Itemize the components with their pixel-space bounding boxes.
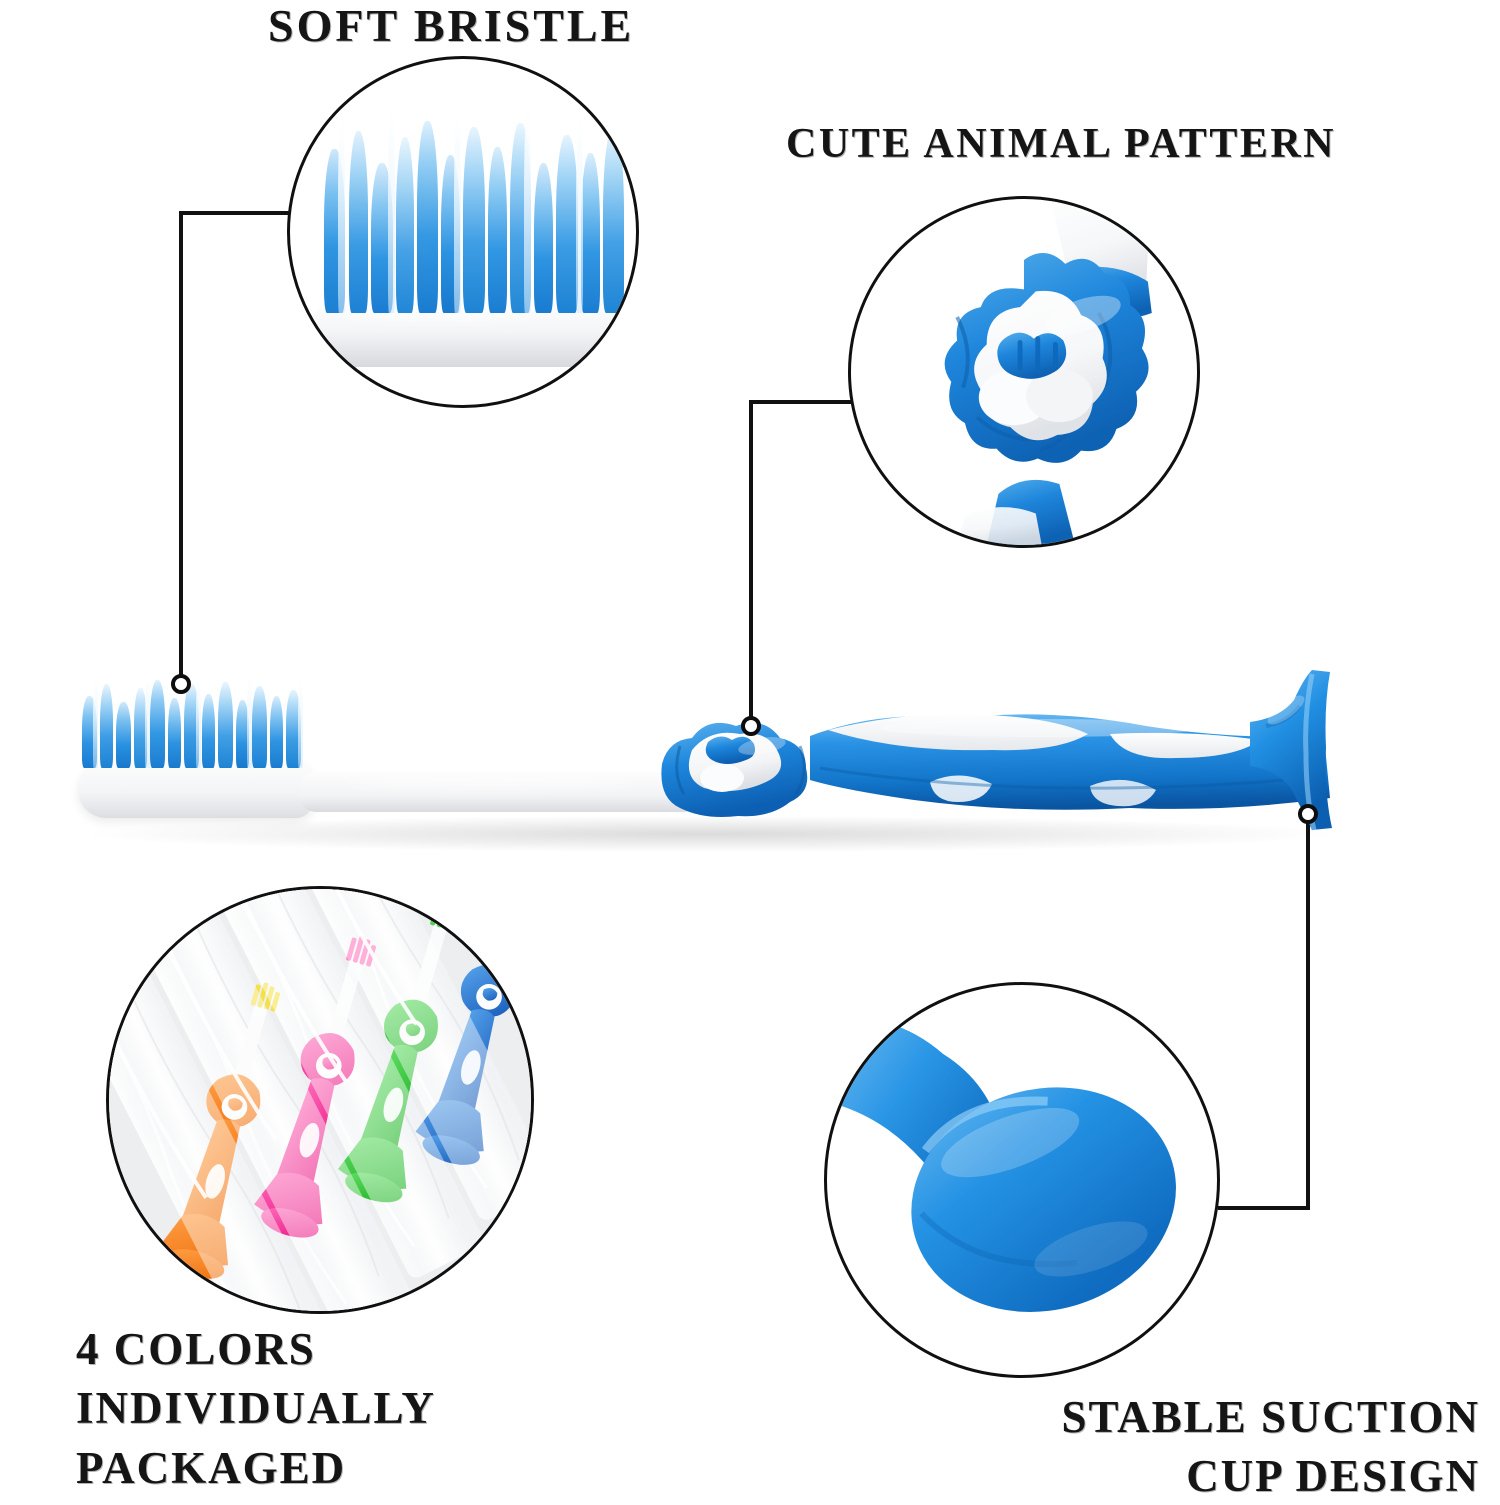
callout-marker-soft-bristle xyxy=(171,674,191,694)
leader-line-soft-bristle-vertical xyxy=(179,211,183,689)
callout-marker-cute-animal xyxy=(741,716,761,736)
lion-head-closeup-art xyxy=(851,199,1197,545)
leader-line-suction-horizontal xyxy=(1218,1206,1310,1210)
leader-line-suction-vertical xyxy=(1306,818,1310,1210)
callout-title-cute-animal-pattern: CUTE ANIMAL PATTERN xyxy=(786,122,1336,166)
bristle-tufts xyxy=(324,117,624,313)
four-packs-art xyxy=(109,889,531,1311)
callout-bubble-stable-suction-cup xyxy=(824,982,1220,1378)
infographic-canvas: SOFT BRISTLE CUTE ANIMAL PATTERN 4 COLOR… xyxy=(0,0,1500,1489)
brush-neck xyxy=(300,772,700,812)
callout-title-four-colors: 4 COLORS INDIVIDUALLY PACKAGED xyxy=(76,1320,436,1498)
callout-marker-suction-cup xyxy=(1298,804,1318,824)
suction-cup-closeup-art xyxy=(827,985,1217,1375)
callout-bubble-four-colors xyxy=(106,886,534,1314)
callout-bubble-soft-bristle xyxy=(287,56,639,408)
callout-bubble-cute-animal-pattern xyxy=(848,196,1200,548)
callout-title-stable-suction-cup: STABLE SUCTION CUP DESIGN xyxy=(1061,1388,1480,1505)
callout-title-soft-bristle: SOFT BRISTLE xyxy=(268,2,634,50)
bristle-closeup-art xyxy=(290,59,636,405)
brush-bristles xyxy=(82,672,310,768)
main-product-toothbrush xyxy=(60,650,1360,870)
brush-head xyxy=(78,762,313,818)
